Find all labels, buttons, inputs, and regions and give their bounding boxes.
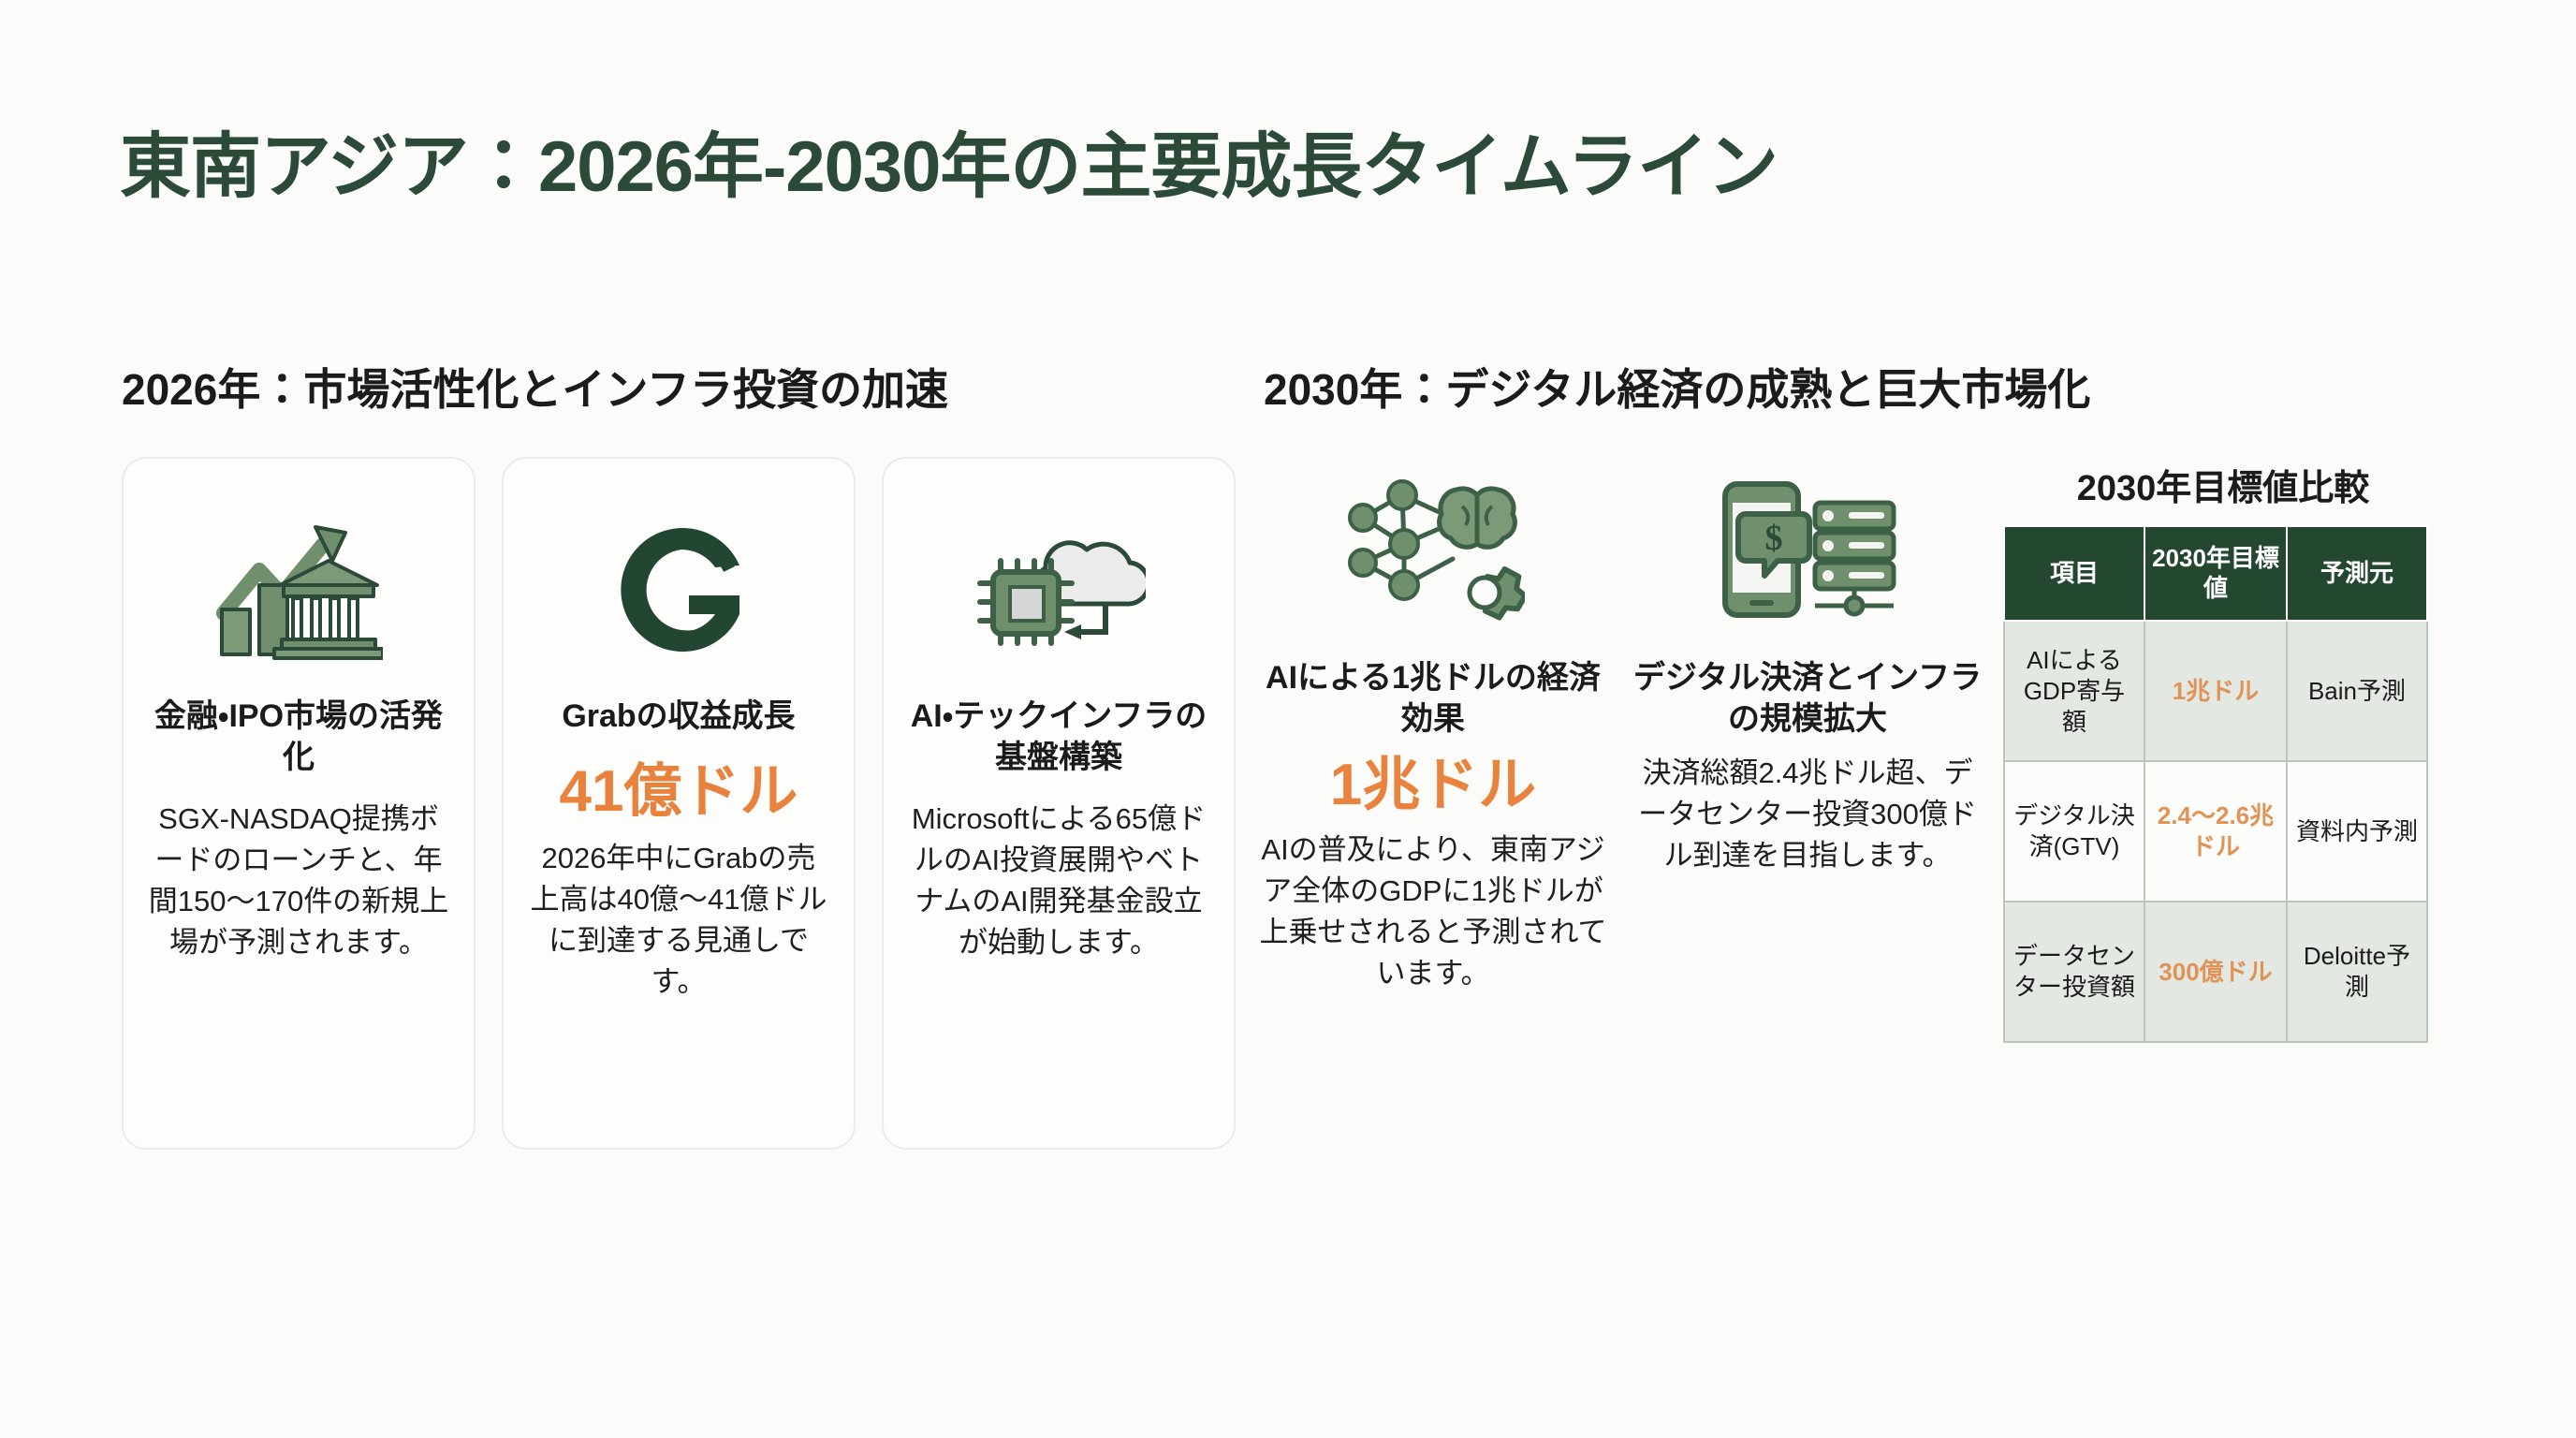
card-grab-revenue[interactable]: Grabの収益成長 41億ドル 2026年中にGrabの売上高は40億〜41億ド… — [502, 457, 856, 1150]
card-title: Grabの収益成長 — [562, 697, 795, 738]
right-column: 2030年：デジタル経済の成熟と巨大市場化 — [1236, 356, 2452, 1043]
block-title: AIによる1兆ドルの経済効果 — [1254, 657, 1612, 740]
growth-chart-bank-icon — [214, 491, 383, 687]
left-card-row: 金融・IPO市場の活発化 SGX-NASDAQ提携ボードのローンチと、年間150… — [122, 457, 1236, 1150]
card-title: AI・テックインフラの基盤構築 — [908, 697, 1209, 778]
card-finance-ipo[interactable]: 金融・IPO市場の活発化 SGX-NASDAQ提携ボードのローンチと、年間150… — [122, 457, 476, 1150]
neural-network-brain-gear-icon — [1342, 464, 1525, 642]
card-stat: 41億ドル — [560, 758, 798, 825]
card-title: 金融・IPO市場の活発化 — [148, 697, 449, 778]
card-body: SGX-NASDAQ提携ボードのローンチと、年間150〜170件の新規上場が予測… — [148, 799, 449, 963]
table-title: 2030年目標値比較 — [2003, 459, 2443, 510]
table-header-row: 項目 2030年目標値 予測元 — [2004, 526, 2427, 621]
block-digital-payment-infra[interactable]: $ — [1629, 457, 1986, 876]
table-row: デジタル決済(GTV) 2.4〜2.6兆ドル 資料内予測 — [2004, 761, 2427, 902]
card-ai-tech-infra[interactable]: AI・テックインフラの基盤構築 Microsoftによる65億ドルのAI投資展開… — [882, 457, 1236, 1150]
comparison-table-wrapper: 2030年目標値比較 項目 2030年目標値 予測元 A — [2003, 457, 2443, 1043]
table-header-source: 予測元 — [2287, 526, 2427, 621]
card-body: Microsoftによる65億ドルのAI投資展開やベトナムのAI開発基金設立が始… — [908, 799, 1209, 963]
svg-text:$: $ — [1765, 519, 1783, 558]
table-cell-value: 1兆ドル — [2144, 621, 2287, 761]
card-body: 2026年中にGrabの売上高は40億〜41億ドルに到達する見通しです。 — [528, 838, 829, 1003]
right-content-row: AIによる1兆ドルの経済効果 1兆ドル AIの普及により、東南アジア全体のGDP… — [1254, 457, 2452, 1043]
right-section-heading: 2030年：デジタル経済の成熟と巨大市場化 — [1264, 356, 2452, 418]
block-body: AIの普及により、東南アジア全体のGDPに1兆ドルが上乗せされると予測されていま… — [1254, 829, 1612, 994]
table-cell-item: デジタル決済(GTV) — [2004, 761, 2144, 902]
table-cell-item: データセンター投資額 — [2004, 902, 2144, 1042]
content-columns: 2026年：市場活性化とインフラ投資の加速 — [0, 356, 2576, 1150]
grab-logo-icon — [599, 491, 758, 687]
table-row: AIによるGDP寄与額 1兆ドル Bain予測 — [2004, 621, 2427, 761]
block-stat: 1兆ドル — [1330, 753, 1536, 817]
table-cell-source: Deloitte予測 — [2287, 902, 2427, 1042]
smartphone-payment-server-icon: $ — [1714, 464, 1901, 642]
page-title: 東南アジア：2026年-2030年の主要成長タイムライン — [120, 109, 1778, 212]
comparison-table: 項目 2030年目標値 予測元 AIによるGDP寄与額 1兆ドル Bain予測 — [2003, 525, 2428, 1043]
block-body: 決済総額2.4兆ドル超、データセンター投資300億ドル到達を目指します。 — [1629, 753, 1986, 876]
infographic-page: 東南アジア：2026年-2030年の主要成長タイムライン 2026年：市場活性化… — [0, 0, 2576, 1438]
left-section-heading: 2026年：市場活性化とインフラ投資の加速 — [122, 356, 1236, 418]
table-cell-value: 2.4〜2.6兆ドル — [2144, 761, 2287, 902]
block-ai-economic-impact[interactable]: AIによる1兆ドルの経済効果 1兆ドル AIの普及により、東南アジア全体のGDP… — [1254, 457, 1612, 994]
table-cell-item: AIによるGDP寄与額 — [2004, 621, 2144, 761]
table-header-target: 2030年目標値 — [2144, 526, 2287, 621]
left-column: 2026年：市場活性化とインフラ投資の加速 — [0, 356, 1236, 1150]
table-cell-value: 300億ドル — [2144, 902, 2287, 1042]
table-cell-source: Bain予測 — [2287, 621, 2427, 761]
table-cell-source: 資料内予測 — [2287, 761, 2427, 902]
table-header-item: 項目 — [2004, 526, 2144, 621]
block-title: デジタル決済とインフラの規模拡大 — [1629, 657, 1986, 740]
table-row: データセンター投資額 300億ドル Deloitte予測 — [2004, 902, 2427, 1042]
chip-cloud-icon — [973, 491, 1146, 687]
